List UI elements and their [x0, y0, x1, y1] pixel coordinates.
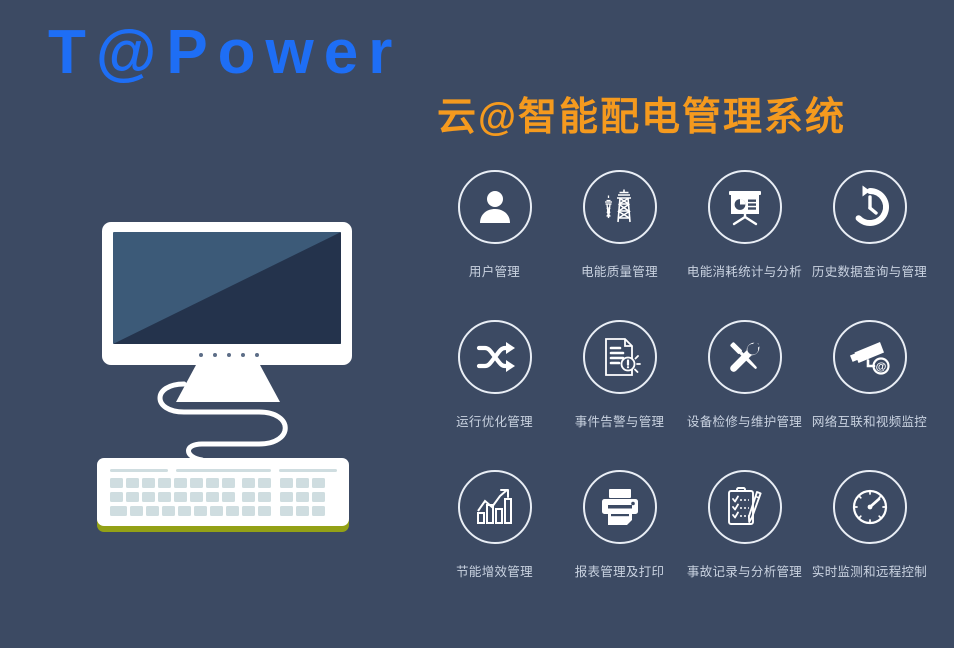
user-icon	[458, 170, 532, 244]
feature-item-power-quality[interactable]: 电能质量管理	[557, 170, 682, 320]
feature-label: 历史数据查询与管理	[812, 261, 927, 280]
presentation-chart-icon	[708, 170, 782, 244]
monitor-screen	[113, 232, 341, 344]
history-clock-icon	[833, 170, 907, 244]
feature-label: 电能消耗统计与分析	[687, 261, 802, 280]
feature-grid: 用户管理	[432, 170, 932, 620]
feature-label: 运行优化管理	[456, 411, 533, 430]
brand-title: T@Power	[48, 22, 402, 84]
feature-label: 实时监测和远程控制	[812, 561, 927, 580]
feature-item-history-data[interactable]: 历史数据查询与管理	[807, 170, 932, 320]
feature-label: 设备检修与维护管理	[687, 411, 802, 430]
feature-item-energy-statistics[interactable]: 电能消耗统计与分析	[682, 170, 807, 320]
gauge-meter-icon	[833, 470, 907, 544]
feature-item-video-monitoring[interactable]: @ 网络互联和视频监控	[807, 320, 932, 470]
transmission-tower-icon	[583, 170, 657, 244]
desktop-computer-illustration	[84, 212, 384, 542]
feature-item-operation-optimization[interactable]: 运行优化管理	[432, 320, 557, 470]
shuffle-arrows-icon	[458, 320, 532, 394]
document-alert-icon	[583, 320, 657, 394]
feature-item-user-management[interactable]: 用户管理	[432, 170, 557, 320]
feature-item-energy-saving[interactable]: 节能增效管理	[432, 470, 557, 620]
feature-item-incident-record[interactable]: 事故记录与分析管理	[682, 470, 807, 620]
svg-text:@: @	[875, 361, 886, 373]
wrench-screwdriver-icon	[708, 320, 782, 394]
feature-item-realtime-control[interactable]: 实时监测和远程控制	[807, 470, 932, 620]
feature-label: 网络互联和视频监控	[812, 411, 927, 430]
keyboard-keys	[110, 478, 325, 516]
bar-chart-growth-icon	[458, 470, 532, 544]
sub-title: 云@智能配电管理系统	[437, 97, 846, 140]
printer-icon	[583, 470, 657, 544]
feature-label: 用户管理	[469, 261, 520, 280]
feature-item-equipment-maintenance[interactable]: 设备检修与维护管理	[682, 320, 807, 470]
page-root: T@Power 云@智能配电管理系统	[0, 0, 954, 648]
feature-label: 节能增效管理	[456, 561, 533, 580]
feature-label: 事故记录与分析管理	[687, 561, 802, 580]
feature-item-event-alarm[interactable]: 事件告警与管理	[557, 320, 682, 470]
feature-item-report-print[interactable]: 报表管理及打印	[557, 470, 682, 620]
feature-label: 电能质量管理	[581, 261, 658, 280]
monitor-stand	[176, 365, 280, 402]
feature-label: 事件告警与管理	[575, 411, 665, 430]
feature-label: 报表管理及打印	[575, 561, 665, 580]
cctv-camera-at-icon: @	[833, 320, 907, 394]
clipboard-checklist-icon	[708, 470, 782, 544]
